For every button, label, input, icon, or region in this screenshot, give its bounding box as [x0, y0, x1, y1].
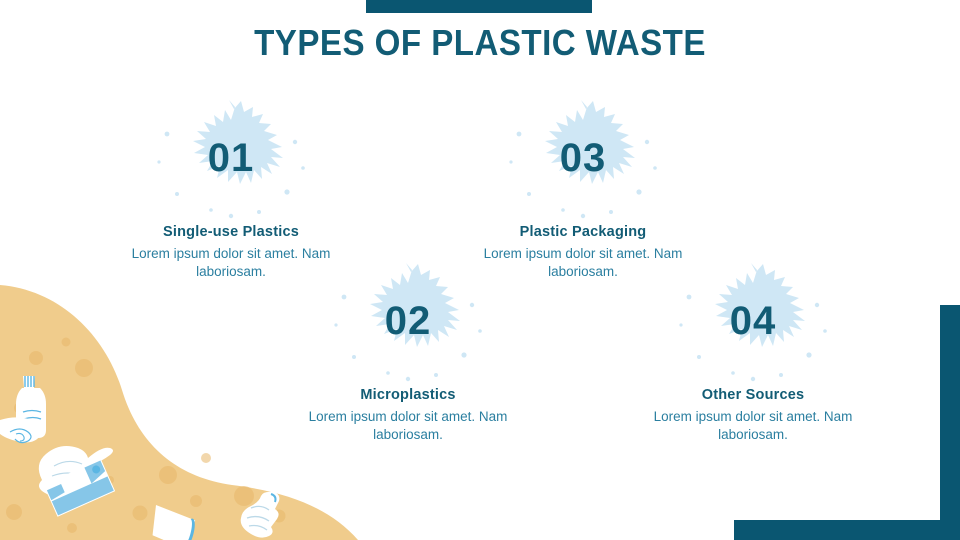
splat-badge-01: 01	[116, 98, 346, 218]
plastic-cup-icon	[146, 505, 198, 540]
splat-badge-03: 03	[468, 98, 698, 218]
slide-canvas: TYPES OF PLASTIC WASTE	[0, 0, 960, 540]
item-number: 03	[468, 98, 698, 218]
item-body: Lorem ipsum dolor sit amet. Nam laborios…	[638, 408, 868, 444]
item-number: 04	[638, 261, 868, 381]
item-number: 01	[116, 98, 346, 218]
crushed-bottle-icon	[241, 492, 280, 538]
plastic-bottle-icon	[16, 376, 46, 438]
title-top-bar	[366, 0, 592, 13]
item-heading: Microplastics	[293, 387, 523, 403]
plastic-wrapper-icon	[0, 417, 42, 442]
corner-accent-horizontal	[734, 520, 960, 540]
splat-badge-04: 04	[638, 261, 868, 381]
item-heading: Other Sources	[638, 387, 868, 403]
list-item-04[interactable]: 04 Other Sources Lorem ipsum dolor sit a…	[638, 261, 868, 444]
drink-carton-icon	[44, 460, 114, 516]
list-item-01[interactable]: 01 Single-use Plastics Lorem ipsum dolor…	[116, 98, 346, 281]
page-title: TYPES OF PLASTIC WASTE	[38, 22, 921, 64]
corner-accent-vertical	[940, 305, 960, 540]
list-item-02[interactable]: 02 Microplastics Lorem ipsum dolor sit a…	[293, 261, 523, 444]
plastic-bag-icon	[39, 446, 113, 498]
item-heading: Plastic Packaging	[468, 224, 698, 240]
item-heading: Single-use Plastics	[116, 224, 346, 240]
list-item-03[interactable]: 03 Plastic Packaging Lorem ipsum dolor s…	[468, 98, 698, 281]
item-body: Lorem ipsum dolor sit amet. Nam laborios…	[293, 408, 523, 444]
